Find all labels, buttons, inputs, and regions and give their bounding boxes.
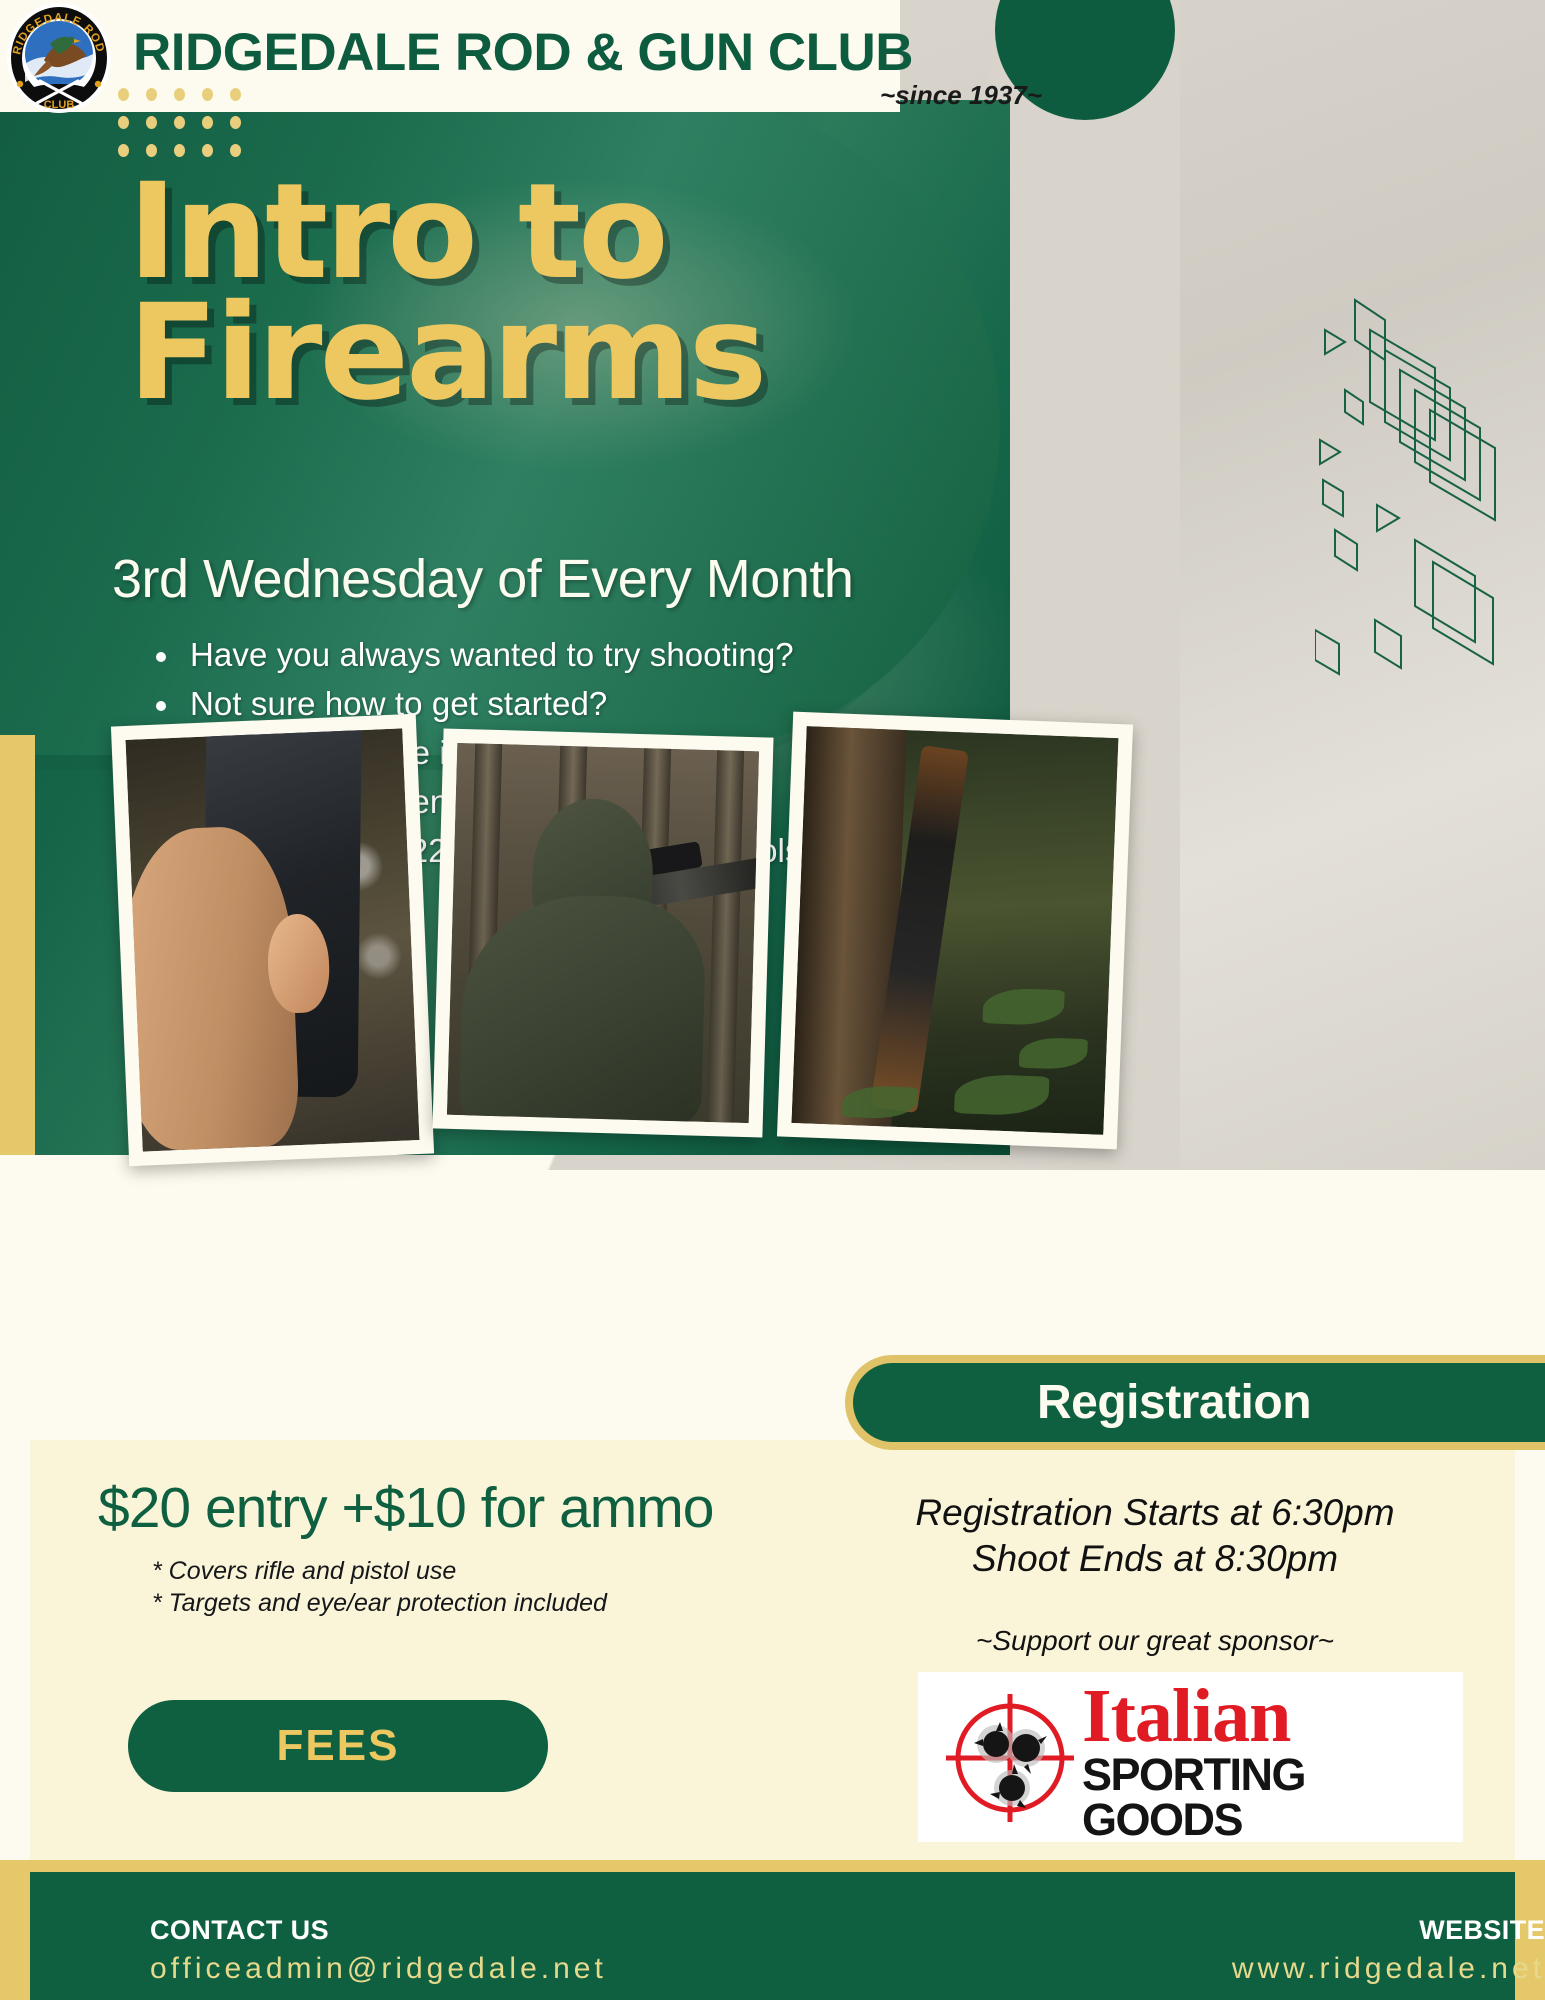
registration-heading: Registration	[1037, 1375, 1311, 1430]
pistol-in-hand-photo	[111, 714, 434, 1166]
page-header: CLUB RIDGEDALE ROD & GUN RIDGEDALE ROD &…	[0, 0, 1545, 112]
fees-note: * Targets and eye/ear protection include…	[152, 1587, 607, 1619]
event-schedule-subtitle: 3rd Wednesday of Every Month	[112, 548, 1072, 610]
headline-line-2: Firearms	[128, 293, 988, 414]
website-label: WEBSITE	[125, 1915, 1545, 1946]
price-text: $20 entry +$10 for ammo	[98, 1475, 713, 1541]
sponsor-name-primary: Italian	[1082, 1680, 1462, 1752]
fees-fine-print: * Covers rifle and pistol use * Targets …	[152, 1555, 607, 1619]
club-logo-icon: CLUB RIDGEDALE ROD & GUN	[4, 2, 114, 114]
website-url[interactable]: www.ridgedale.net	[121, 1952, 1545, 1986]
sponsor-support-label: ~Support our great sponsor~	[845, 1625, 1465, 1657]
club-name-title: RIDGEDALE ROD & GUN CLUB	[133, 22, 913, 83]
shoot-end-time: Shoot Ends at 8:30pm	[845, 1536, 1465, 1582]
fees-note: * Covers rifle and pistol use	[152, 1555, 607, 1587]
fees-button[interactable]: FEES	[128, 1700, 548, 1792]
sponsor-name: Italian SPORTING GOODS	[1082, 1680, 1462, 1842]
geometric-line-decoration	[1315, 290, 1545, 720]
registration-banner: Registration	[845, 1355, 1545, 1450]
list-item: Have you always wanted to try shooting?	[148, 636, 968, 674]
flyer-headline: Intro to Firearms	[128, 172, 988, 415]
logo-bottom-text: CLUB	[44, 99, 75, 111]
photo-gallery	[0, 700, 1545, 1180]
since-year-text: ~since 1937~	[880, 80, 1042, 111]
shooter-aiming-rifle-photo	[432, 728, 773, 1137]
registration-times: Registration Starts at 6:30pm Shoot Ends…	[845, 1490, 1465, 1582]
flyer-page: CLUB RIDGEDALE ROD & GUN RIDGEDALE ROD &…	[0, 0, 1545, 2000]
crosshair-bullet-holes-icon	[940, 1688, 1080, 1828]
sponsor-name-secondary: SPORTING GOODS	[1082, 1752, 1462, 1842]
lever-action-rifle-against-tree-photo	[777, 712, 1133, 1150]
registration-start-time: Registration Starts at 6:30pm	[845, 1490, 1465, 1536]
